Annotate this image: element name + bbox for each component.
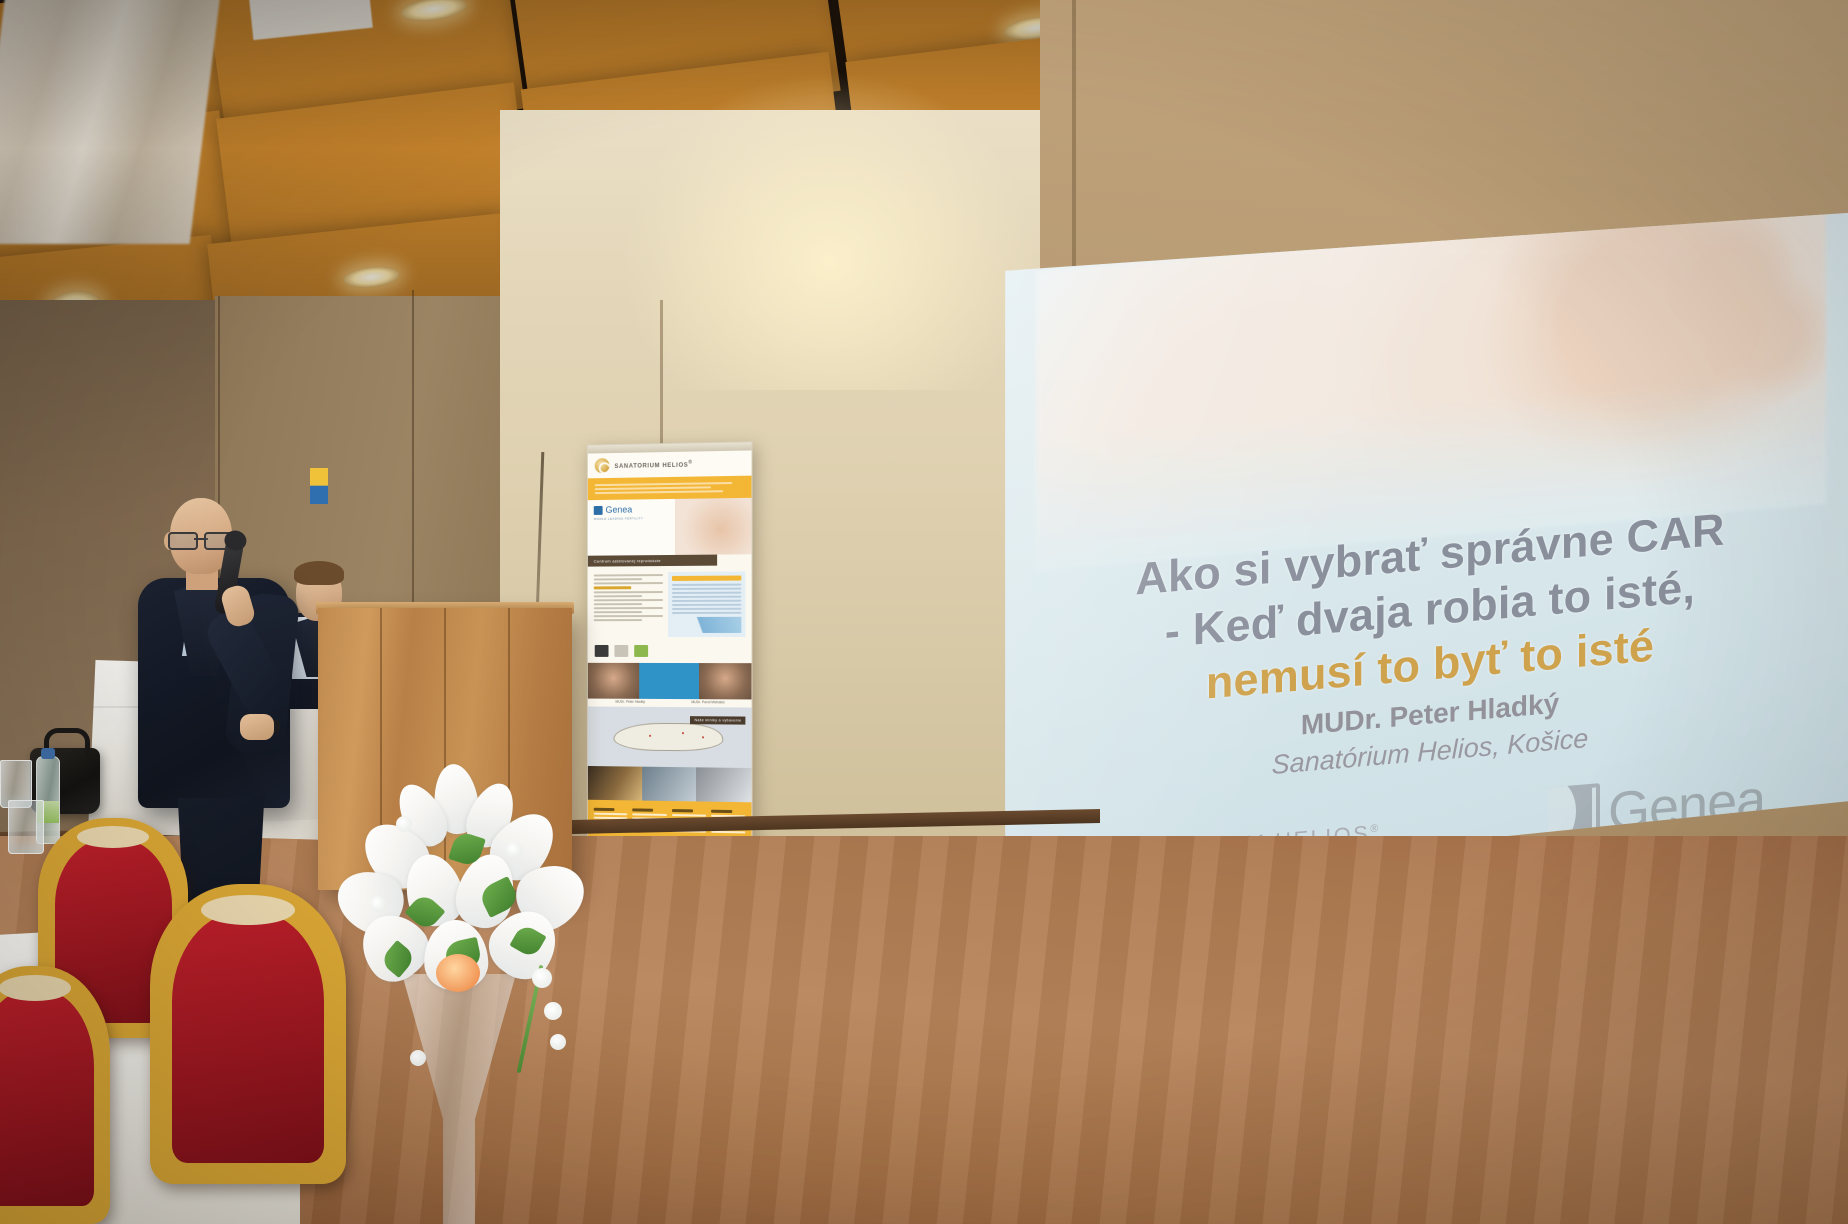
presentation-slide: Ako si vybrať správne CAR - Keď dvaja ro… (1000, 212, 1848, 912)
slide-genea-wordmark: Genea (1608, 777, 1765, 835)
leaf-icon (634, 645, 648, 657)
banner-genea-tagline: WORLD LEADING FERTILITY (594, 516, 669, 521)
conference-room-photo: Ako si vybrať správne CAR - Keď dvaja ro… (0, 0, 1848, 1224)
roll-up-banner: SANATORIUM HELIOS® Genea WORLD LEADING F… (587, 441, 753, 844)
banner-icon-row (588, 643, 752, 663)
banner-column-right (668, 571, 746, 637)
portrait-caption (639, 663, 699, 699)
banner-chart-graphic (671, 617, 741, 633)
banner-text-columns (588, 565, 752, 643)
recessed-downlight (399, 0, 467, 25)
portrait-photo (699, 663, 751, 699)
banner-baby-photo (675, 498, 751, 555)
banner-yellow-strip (588, 476, 752, 501)
slovakia-outline-icon (614, 722, 724, 751)
portrait-name: MUDr. Pavol Michalec (669, 700, 747, 704)
portrait-name: MUDr. Peter Hladký (592, 700, 669, 704)
window-curtain (0, 0, 220, 244)
banner-mid-block: Genea WORLD LEADING FERTILITY (588, 498, 752, 556)
flower-bouquet (306, 758, 606, 1224)
banner-genea-logo: Genea (594, 505, 669, 515)
banquet-chair (0, 966, 110, 1224)
banner-header-title: SANATORIUM HELIOS® (614, 460, 692, 470)
ceiling-duct (247, 0, 373, 40)
banner-portraits (588, 663, 752, 700)
helios-swirl-icon (595, 458, 610, 473)
recessed-downlight (0, 189, 40, 216)
banner-genea-wordmark: Genea (606, 506, 633, 515)
glass-vase (402, 974, 516, 1224)
facility-photo (696, 767, 751, 802)
projection-screen: Ako si vybrať správne CAR - Keď dvaja ro… (1000, 212, 1848, 912)
facility-photo (642, 767, 697, 802)
portrait-photo (588, 663, 639, 699)
equipment-icon (614, 645, 628, 657)
banner-photo-label: Naše kliniky a vybavenie (690, 716, 745, 724)
wall-sticker (310, 468, 328, 504)
genea-mark-icon (594, 506, 603, 515)
recessed-downlight (343, 264, 401, 290)
microscope-icon (595, 645, 609, 657)
orange-bloom (436, 954, 480, 992)
banner-column-left (594, 572, 663, 637)
banner-facility-photos: Naše kliniky a vybavenie (588, 766, 752, 802)
genea-mark-icon (1548, 783, 1600, 839)
banner-right-heading (671, 576, 741, 581)
banner-header: SANATORIUM HELIOS® (588, 450, 752, 478)
